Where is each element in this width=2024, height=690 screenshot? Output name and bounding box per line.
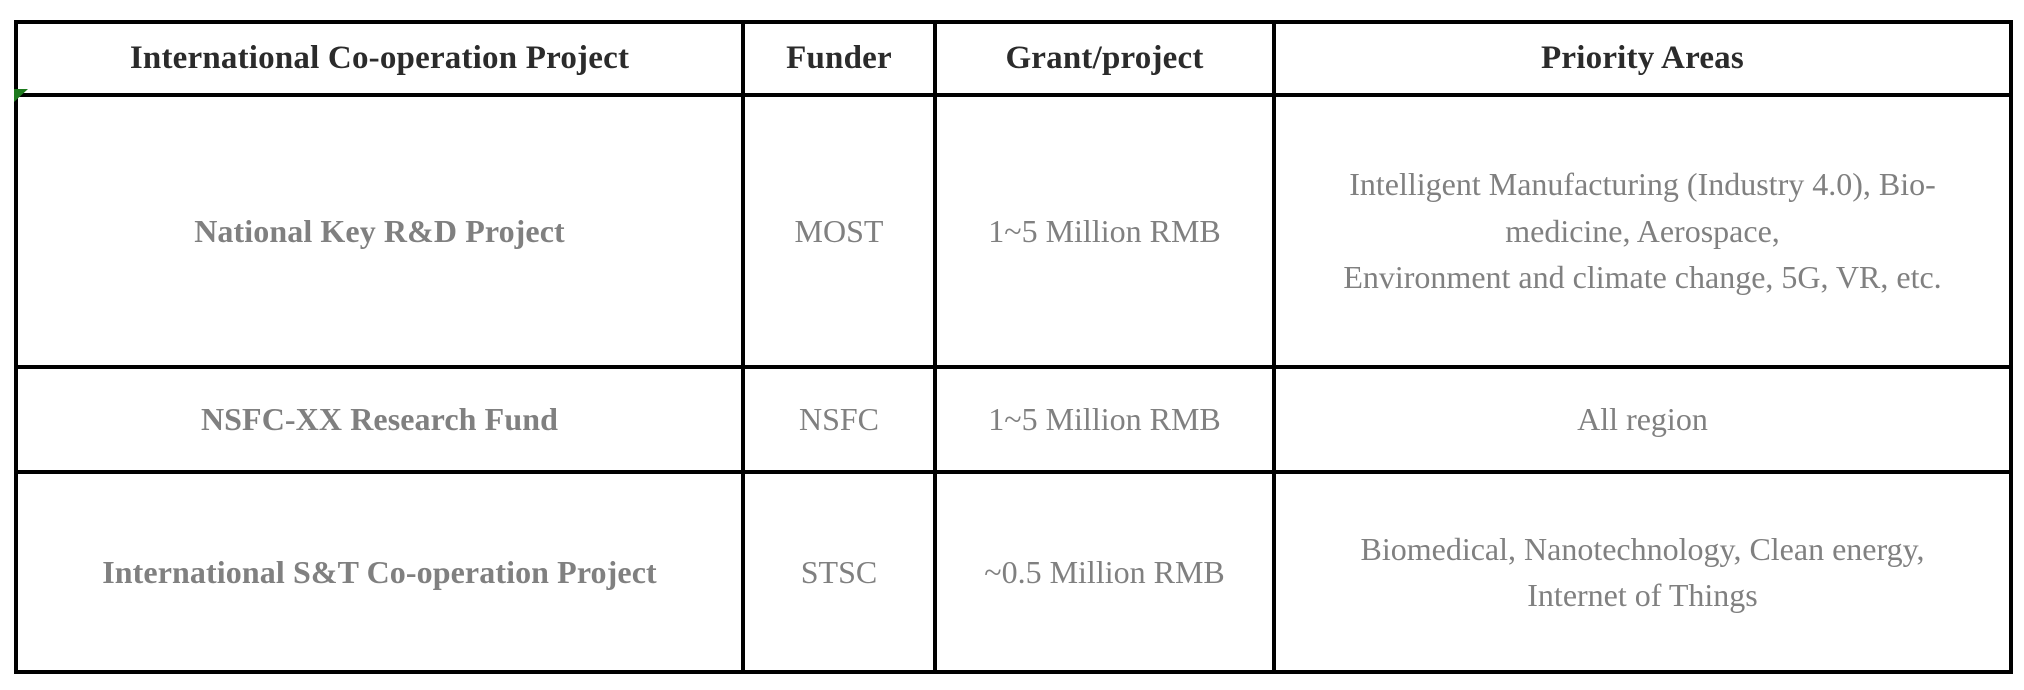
- priority-line: Intelligent Manufacturing (Industry 4.0)…: [1294, 161, 1991, 207]
- table-row: National Key R&D Project MOST 1~5 Millio…: [16, 95, 2011, 367]
- priority-lines-3: Biomedical, Nanotechnology, Clean energy…: [1294, 526, 1991, 619]
- table-page: International Co-operation Project Funde…: [0, 0, 2024, 690]
- international-cooperation-grant-table: International Co-operation Project Funde…: [14, 20, 2013, 674]
- cell-grant-2: 1~5 Million RMB: [935, 367, 1274, 472]
- table-row: International S&T Co-operation Project S…: [16, 472, 2011, 672]
- cell-funder-3: STSC: [743, 472, 935, 672]
- column-header-project: International Co-operation Project: [16, 22, 743, 95]
- priority-line: Biomedical, Nanotechnology, Clean energy…: [1294, 526, 1991, 572]
- cell-project-3: International S&T Co-operation Project: [16, 472, 743, 672]
- priority-line: Environment and climate change, 5G, VR, …: [1294, 254, 1991, 300]
- priority-lines-1: Intelligent Manufacturing (Industry 4.0)…: [1294, 161, 1991, 300]
- priority-line: Internet of Things: [1294, 572, 1991, 618]
- priority-lines-2: All region: [1294, 396, 1991, 442]
- cell-priority-1: Intelligent Manufacturing (Industry 4.0)…: [1274, 95, 2011, 367]
- column-header-priority: Priority Areas: [1274, 22, 2011, 95]
- table-header-row: International Co-operation Project Funde…: [16, 22, 2011, 95]
- priority-line: medicine, Aerospace,: [1294, 208, 1991, 254]
- cell-priority-3: Biomedical, Nanotechnology, Clean energy…: [1274, 472, 2011, 672]
- column-header-grant: Grant/project: [935, 22, 1274, 95]
- grant-table-container: International Co-operation Project Funde…: [14, 20, 2009, 670]
- cell-project-1: National Key R&D Project: [16, 95, 743, 367]
- cell-priority-2: All region: [1274, 367, 2011, 472]
- cell-funder-2: NSFC: [743, 367, 935, 472]
- table-body: National Key R&D Project MOST 1~5 Millio…: [16, 95, 2011, 672]
- table-row: NSFC-XX Research Fund NSFC 1~5 Million R…: [16, 367, 2011, 472]
- cell-grant-3: ~0.5 Million RMB: [935, 472, 1274, 672]
- table-header: International Co-operation Project Funde…: [16, 22, 2011, 95]
- cell-project-2: NSFC-XX Research Fund: [16, 367, 743, 472]
- priority-line: All region: [1294, 396, 1991, 442]
- column-header-funder: Funder: [743, 22, 935, 95]
- cell-funder-1: MOST: [743, 95, 935, 367]
- cell-grant-1: 1~5 Million RMB: [935, 95, 1274, 367]
